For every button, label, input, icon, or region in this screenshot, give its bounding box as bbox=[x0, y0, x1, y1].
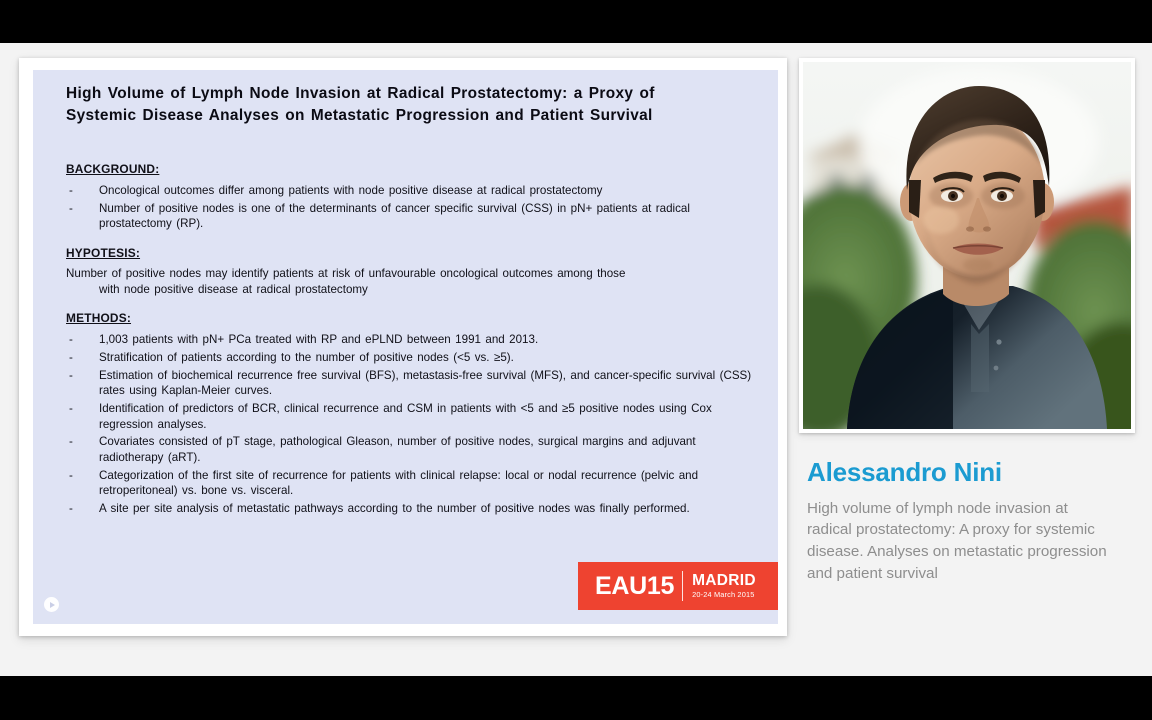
bullet-dash-icon: - bbox=[69, 468, 73, 483]
list-item-text: Categorization of the first site of recu… bbox=[99, 469, 698, 497]
list-item-text: Identification of predictors of BCR, cli… bbox=[99, 402, 712, 430]
eau-logo-city: MADRID bbox=[692, 573, 756, 589]
speaker-description: High volume of lymph node invasion at ra… bbox=[799, 498, 1115, 585]
bullet-dash-icon: - bbox=[69, 368, 73, 383]
eau-congress-logo: EAU15 MADRID 20-24 March 2015 bbox=[578, 562, 778, 610]
list-item: - Number of positive nodes is one of the… bbox=[66, 201, 756, 232]
slide-title: High Volume of Lymph Node Invasion at Ra… bbox=[66, 83, 726, 127]
list-item-text: Oncological outcomes differ among patien… bbox=[99, 184, 602, 197]
list-item-text: 1,003 patients with pN+ PCa treated with… bbox=[99, 333, 538, 346]
methods-bullet-list: - 1,003 patients with pN+ PCa treated wi… bbox=[66, 332, 756, 516]
viewer-stage: High Volume of Lymph Node Invasion at Ra… bbox=[0, 0, 1152, 720]
bullet-dash-icon: - bbox=[69, 501, 73, 516]
bullet-dash-icon: - bbox=[69, 201, 73, 216]
list-item: - Covariates consisted of pT stage, path… bbox=[66, 434, 756, 465]
list-item-text: Number of positive nodes is one of the d… bbox=[99, 202, 690, 230]
play-triangle-icon bbox=[50, 602, 55, 608]
section-heading-hypotesis: HYPOTESIS: bbox=[66, 246, 756, 262]
slide-card[interactable]: High Volume of Lymph Node Invasion at Ra… bbox=[19, 58, 787, 636]
list-item-text: A site per site analysis of metastatic p… bbox=[99, 502, 690, 515]
section-heading-methods: METHODS: bbox=[66, 311, 756, 327]
bullet-dash-icon: - bbox=[69, 401, 73, 416]
eau-logo-right-block: MADRID 20-24 March 2015 bbox=[692, 573, 756, 598]
list-item-text: Estimation of biochemical recurrence fre… bbox=[99, 369, 751, 397]
list-item: - Estimation of biochemical recurrence f… bbox=[66, 368, 756, 399]
list-item: - Oncological outcomes differ among pati… bbox=[66, 183, 756, 198]
list-item-text: Stratification of patients according to … bbox=[99, 351, 514, 364]
background-bullet-list: - Oncological outcomes differ among pati… bbox=[66, 183, 756, 232]
speaker-portrait-image bbox=[803, 62, 1131, 429]
hypotesis-paragraph: Number of positive nodes may identify pa… bbox=[66, 266, 756, 297]
play-icon[interactable] bbox=[44, 597, 59, 612]
content-area: High Volume of Lymph Node Invasion at Ra… bbox=[0, 43, 1152, 676]
letterbox-bottom bbox=[0, 676, 1152, 720]
list-item: - Identification of predictors of BCR, c… bbox=[66, 401, 756, 432]
eau-logo-divider bbox=[682, 571, 683, 601]
slide-surface: High Volume of Lymph Node Invasion at Ra… bbox=[33, 70, 778, 624]
list-item-text: Covariates consisted of pT stage, pathol… bbox=[99, 435, 696, 463]
speaker-name: Alessandro Nini bbox=[799, 458, 1135, 487]
speaker-photo-frame bbox=[799, 58, 1135, 433]
letterbox-top bbox=[0, 0, 1152, 43]
eau-logo-dates: 20-24 March 2015 bbox=[692, 591, 756, 599]
list-item: - A site per site analysis of metastatic… bbox=[66, 501, 756, 516]
slide-body: BACKGROUND: - Oncological outcomes diffe… bbox=[66, 162, 756, 519]
bullet-dash-icon: - bbox=[69, 183, 73, 198]
list-item: - 1,003 patients with pN+ PCa treated wi… bbox=[66, 332, 756, 347]
list-item: - Stratification of patients according t… bbox=[66, 350, 756, 365]
hypotesis-line-1: Number of positive nodes may identify pa… bbox=[66, 267, 625, 280]
eau-logo-main-text: EAU15 bbox=[595, 574, 674, 599]
bullet-dash-icon: - bbox=[69, 434, 73, 449]
list-item: - Categorization of the first site of re… bbox=[66, 468, 756, 499]
speaker-panel: Alessandro Nini High volume of lymph nod… bbox=[799, 58, 1135, 648]
avatar bbox=[803, 62, 1131, 429]
section-heading-background: BACKGROUND: bbox=[66, 162, 756, 178]
bullet-dash-icon: - bbox=[69, 350, 73, 365]
hypotesis-line-2: with node positive disease at radical pr… bbox=[66, 282, 756, 297]
bullet-dash-icon: - bbox=[69, 332, 73, 347]
